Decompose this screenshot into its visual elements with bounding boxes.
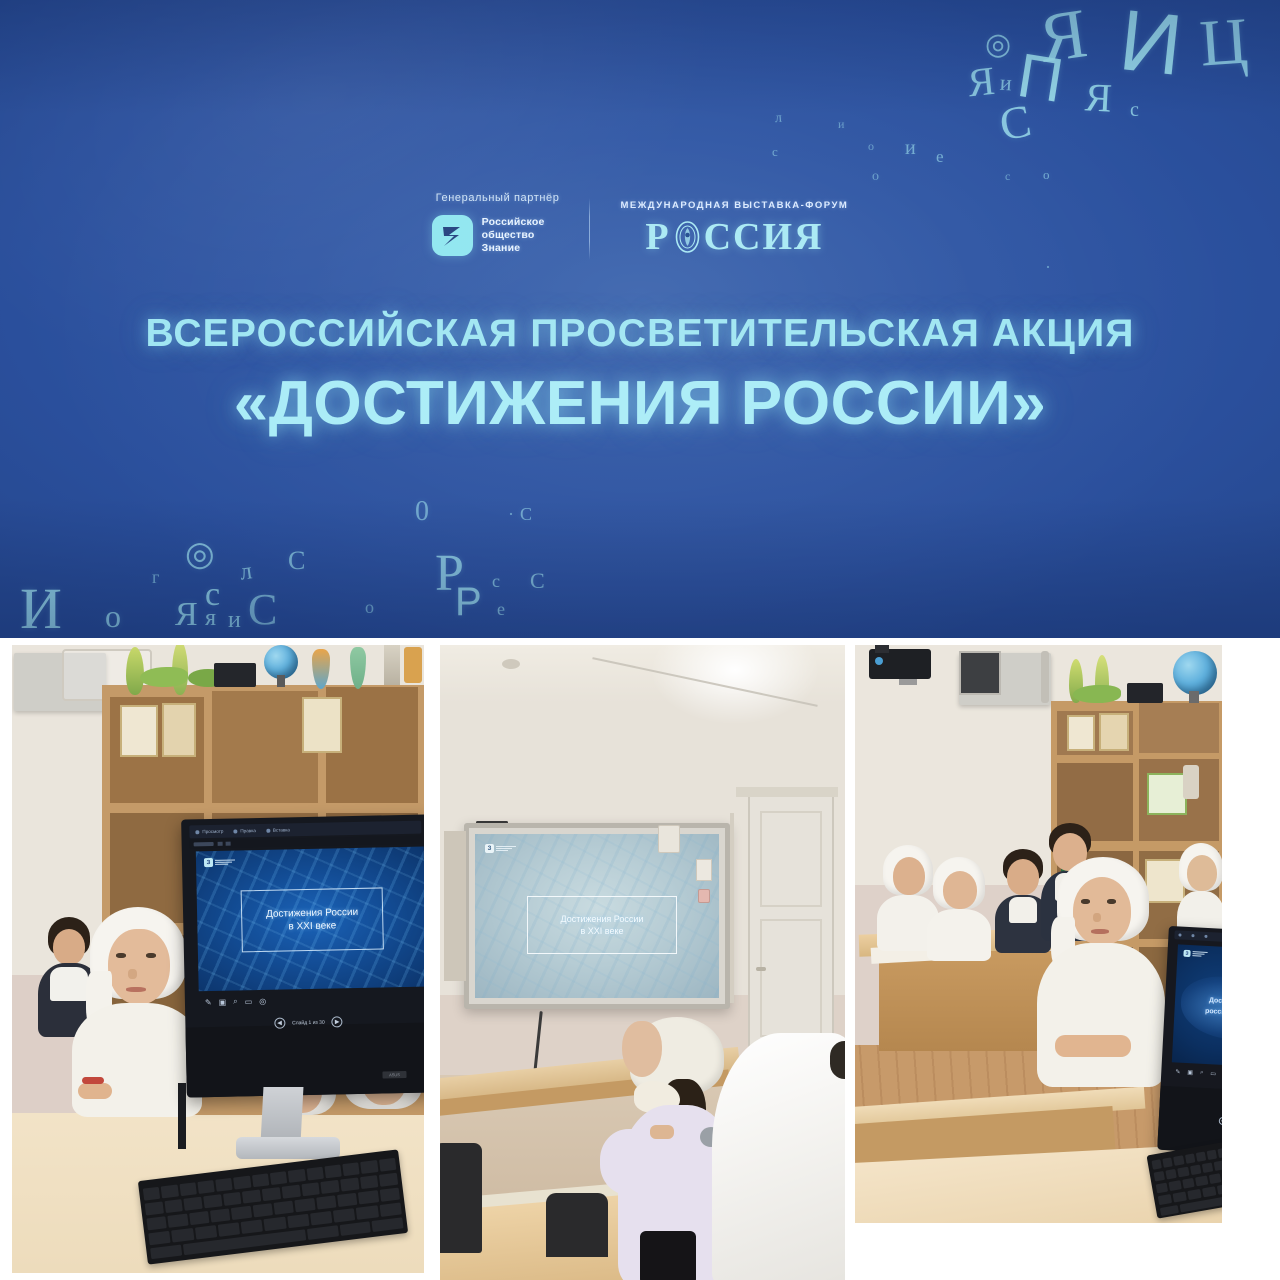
decor-letter: о xyxy=(868,140,874,152)
hand xyxy=(78,1083,112,1099)
decor-letter: с xyxy=(492,572,500,590)
control-panel[interactable] xyxy=(658,825,680,853)
hair xyxy=(830,1041,845,1079)
decor-letter: С xyxy=(248,588,277,632)
general-partner-block: Генеральный партнёр Российское общество … xyxy=(432,192,590,256)
projector-bracket xyxy=(899,679,917,685)
projection-surface: З Достижения России в XXI веке xyxy=(475,834,719,998)
general-partner-caption: Генеральный партнёр xyxy=(436,192,560,204)
slide-logo-text xyxy=(215,860,235,865)
projected-znanie-logo-icon: З xyxy=(485,844,516,853)
projector-mount xyxy=(875,645,889,653)
globe-stand xyxy=(1189,691,1199,703)
decor-letter: Я xyxy=(175,598,198,632)
decor-letter: е xyxy=(936,148,944,165)
classroom-door[interactable] xyxy=(748,795,834,1057)
face xyxy=(1073,877,1131,945)
russia-expo-block: МЕЖДУНАРОДНАЯ ВЫСТАВКА-ФОРУМ Р ССИЯ xyxy=(590,192,848,256)
slide-znanie-logo-icon: З xyxy=(204,858,235,868)
photo-right: З Достижения со российских иссл ✎ ▣ ⌕ ▭ … xyxy=(855,645,1222,1223)
page-title-line1: ВСЕРОССИЙСКАЯ ПРОСВЕТИТЕЛЬСКАЯ АКЦИЯ xyxy=(0,312,1280,356)
decor-letter: С xyxy=(288,548,305,574)
projected-logo-text xyxy=(496,846,516,851)
expo-wordmark: Р ССИЯ xyxy=(645,218,823,256)
prev-slide-button[interactable]: ◀ xyxy=(274,1017,285,1028)
decor-figure xyxy=(384,645,400,685)
skirt xyxy=(640,1231,696,1280)
next-slide-button[interactable]: ▶ xyxy=(332,1016,343,1027)
decor-letter: л xyxy=(238,559,253,584)
decor-figure xyxy=(1183,765,1199,799)
expo-name-part1: Р xyxy=(645,218,670,256)
toolbar-tab[interactable] xyxy=(1204,935,1207,938)
toolbar-tab[interactable] xyxy=(1191,934,1194,937)
nose xyxy=(1093,913,1101,922)
present-tool-icon[interactable]: ▭ xyxy=(245,997,253,1006)
projected-title-line1: Достижения России xyxy=(561,913,644,925)
face xyxy=(1007,859,1039,895)
decor-letter: ◎ xyxy=(985,30,1011,60)
globe xyxy=(1173,651,1217,695)
slide-title-line1: Достижения России xyxy=(266,905,358,920)
decor-letter: л xyxy=(774,112,782,127)
decor-letter: · xyxy=(1045,258,1051,276)
face xyxy=(893,857,925,895)
monitor-right[interactable]: З Достижения со российских иссл ✎ ▣ ⌕ ▭ … xyxy=(1157,926,1222,1156)
decor-letter: Ц xyxy=(1198,8,1250,77)
projected-title-line2: в XXI веке xyxy=(580,925,623,937)
board-edge xyxy=(730,813,734,1003)
decor-plant xyxy=(1073,685,1121,703)
znanie-org-name: Российское общество Знание xyxy=(482,216,545,256)
decor-plant xyxy=(140,667,188,687)
zoom-tool-icon[interactable]: ⌕ xyxy=(1200,1070,1204,1077)
certificate-frame xyxy=(1099,713,1129,751)
door-header xyxy=(736,787,838,797)
decor-letter: Р xyxy=(455,582,482,622)
partner-logos-row: Генеральный партнёр Российское общество … xyxy=(0,192,1280,260)
eye xyxy=(1107,899,1116,904)
face-side xyxy=(622,1021,662,1077)
smoke-detector xyxy=(502,659,520,669)
slide-title-line2: в XXI веке xyxy=(288,919,336,933)
slide-canvas-right: З Достижения со российских иссл xyxy=(1172,944,1222,1068)
ac-side xyxy=(1041,651,1049,703)
board-side-panel xyxy=(444,831,466,981)
slide-tools[interactable]: ✎ ▣ ⌕ ▭ ◎ xyxy=(205,996,266,1007)
stamp-tool-icon[interactable]: ▣ xyxy=(219,997,227,1006)
decor-letter: С xyxy=(996,98,1034,149)
toolbar-tab[interactable] xyxy=(1178,933,1181,936)
zoom-tool-icon[interactable]: ⌕ xyxy=(233,996,238,1006)
face xyxy=(943,871,977,909)
decor-letter: И xyxy=(1116,0,1186,89)
decor-letter: и xyxy=(838,118,844,130)
mouth xyxy=(126,987,146,992)
photo-collage: ЯИЦ◎ПЯиЯСсолисоиеос·0·С◎лСсСРРсСеоИЯяиго… xyxy=(0,0,1280,1280)
decor-letter: с xyxy=(1005,170,1010,182)
toolbar-tab-0[interactable]: Просмотр xyxy=(195,829,223,835)
russia-expo-emblem-icon xyxy=(674,220,701,254)
pen-tool-icon[interactable]: ✎ xyxy=(205,998,212,1007)
chair[interactable] xyxy=(440,1143,482,1253)
decor-letter: я xyxy=(205,606,216,630)
decor-letter: о xyxy=(365,598,374,616)
slide-tools-right[interactable]: ✎ ▣ ⌕ ▭ ◎ xyxy=(1175,1068,1222,1078)
alarm-button[interactable] xyxy=(698,889,710,903)
monitor-stand-neck xyxy=(261,1087,304,1143)
decor-figure xyxy=(404,647,422,683)
photo-left: Просмотр Правка Вставка З Дост xyxy=(12,645,424,1273)
decor-letter: 0 xyxy=(415,498,429,526)
face xyxy=(108,929,170,1005)
presentation-toolbar-right[interactable] xyxy=(1174,930,1222,945)
headscarf-cloak xyxy=(712,1033,845,1280)
mouth xyxy=(1091,929,1109,934)
student-foreground-right xyxy=(1037,857,1165,1087)
slide-logo-text xyxy=(1192,951,1207,957)
decor-letter: и xyxy=(228,608,241,632)
monitor-left[interactable]: Просмотр Правка Вставка З Дост xyxy=(181,814,424,1097)
decor-letter: и xyxy=(999,72,1012,95)
page-title-line2: «ДОСТИЖЕНИЯ РОССИИ» xyxy=(0,368,1280,439)
present-tool-icon[interactable]: ▭ xyxy=(1210,1070,1216,1077)
znanie-lockup: Российское общество Знание xyxy=(432,215,545,256)
socket-panel[interactable] xyxy=(696,859,712,881)
decor-letter: о xyxy=(1043,168,1050,181)
eye xyxy=(146,953,156,958)
torso xyxy=(1037,943,1165,1087)
bracelet xyxy=(82,1077,104,1084)
face xyxy=(1187,855,1217,891)
interactive-whiteboard[interactable]: З Достижения России в XXI веке xyxy=(464,823,730,1009)
znanie-z-logo-icon xyxy=(432,215,473,256)
decor-letter: · xyxy=(508,505,514,523)
student-r2 xyxy=(927,857,991,961)
slide-canvas-left: З Достижения России в XXI веке xyxy=(196,847,424,992)
decor-letter: ◎ xyxy=(185,538,215,572)
globe-stand xyxy=(277,675,285,687)
eye xyxy=(116,953,126,958)
electronics-box xyxy=(1127,683,1163,703)
slide-counter: Слайд 1 из 30 xyxy=(292,1019,325,1026)
shelf-cell xyxy=(1139,703,1219,753)
student-white-foreground xyxy=(712,1033,845,1280)
decor-letter: с xyxy=(772,145,778,158)
event-banner: ЯИЦ◎ПЯиЯСсолисоиеос·0·С◎лСсСРРсСеоИЯяиго… xyxy=(0,0,1280,638)
monitor-cable xyxy=(178,1083,186,1149)
torso xyxy=(927,909,991,961)
decor-letter: о xyxy=(105,600,121,632)
electronics-box xyxy=(214,663,256,687)
decor-letter: С xyxy=(520,505,532,523)
chair[interactable] xyxy=(546,1193,608,1257)
monitor-bezel-bottom xyxy=(185,1022,424,1097)
toolbar-tab-1[interactable]: Правка xyxy=(233,828,256,833)
decor-letter: о xyxy=(872,170,879,184)
decor-letter: с xyxy=(205,578,220,612)
banner-headline: ВСЕРОССИЙСКАЯ ПРОСВЕТИТЕЛЬСКАЯ АКЦИЯ «ДО… xyxy=(0,312,1280,439)
pen-tool-icon[interactable]: ✎ xyxy=(1175,1068,1180,1075)
options-tool-icon[interactable]: ◎ xyxy=(259,996,266,1005)
certificate-frame xyxy=(162,703,196,757)
decor-letter: е xyxy=(497,600,505,618)
decor-letter: Я xyxy=(1084,77,1113,118)
decor-letter: и xyxy=(905,138,916,158)
expo-name-part2: ССИЯ xyxy=(704,218,824,256)
ceiling-light-glare xyxy=(650,645,820,725)
prev-slide-button[interactable]: ◀ xyxy=(1218,1117,1222,1125)
ac-vent xyxy=(959,651,1001,695)
certificate-frame xyxy=(1067,715,1095,751)
hand xyxy=(650,1125,674,1139)
eye xyxy=(1081,899,1090,904)
arm xyxy=(600,1129,662,1195)
slide-znanie-logo-icon: З xyxy=(1183,950,1207,958)
decor-letter: Я xyxy=(1035,0,1091,75)
expo-caption: МЕЖДУНАРОДНАЯ ВЫСТАВКА-ФОРУМ xyxy=(620,200,848,211)
decor-letter: С xyxy=(530,570,545,592)
decor-letter: Я xyxy=(966,61,997,104)
toolbar-tab-2[interactable]: Вставка xyxy=(266,827,290,833)
certificate-frame xyxy=(120,705,158,757)
decor-letter: с xyxy=(1130,100,1139,120)
nose xyxy=(128,969,137,979)
monitor-stand-base xyxy=(236,1137,340,1159)
decor-letter: И xyxy=(20,580,62,638)
collar xyxy=(1009,897,1037,923)
certificate-frame xyxy=(302,697,342,753)
stamp-tool-icon[interactable]: ▣ xyxy=(1187,1069,1193,1076)
globe xyxy=(264,645,298,679)
projected-title-box: Достижения России в XXI веке xyxy=(527,896,677,954)
display-box xyxy=(1147,773,1187,815)
decor-letter: Р xyxy=(435,548,464,600)
decor-letter: г xyxy=(152,568,159,586)
monitor-brand-logo: ASUS xyxy=(382,1071,406,1079)
forearm xyxy=(1055,1035,1131,1057)
decor-letter: П xyxy=(1013,45,1067,113)
slide-title-box-left: Достижения России в XXI веке xyxy=(241,887,384,952)
projector-lens xyxy=(875,657,883,665)
photo-mid: З Достижения России в XXI веке xyxy=(440,645,845,1280)
